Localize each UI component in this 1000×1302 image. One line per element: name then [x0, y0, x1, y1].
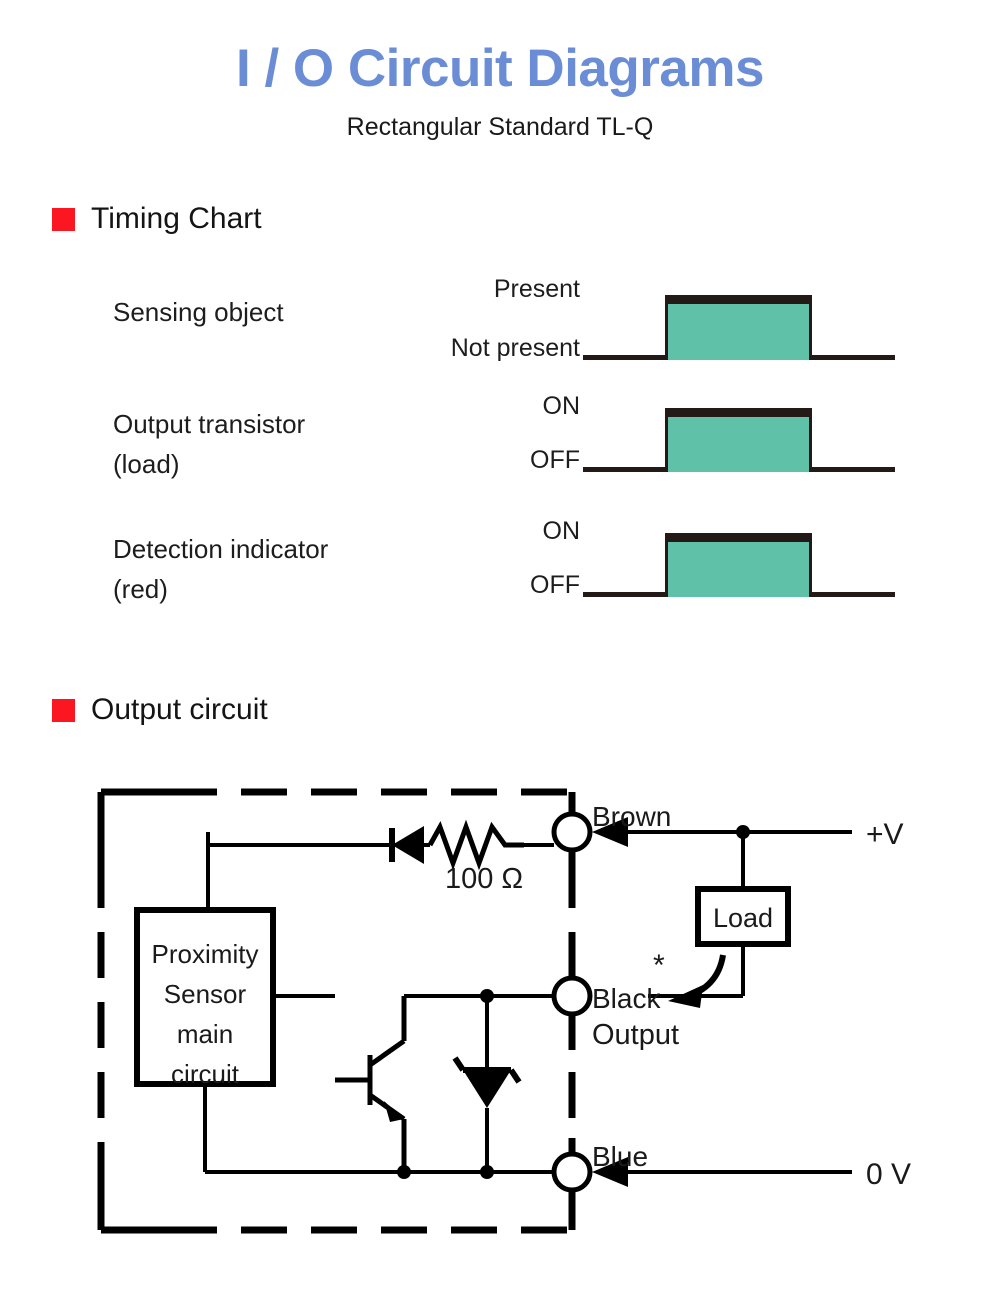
timing-row-high-label: ON — [543, 517, 581, 546]
timing-waveform — [583, 505, 895, 625]
wire-color-label-black: Black — [592, 983, 661, 1014]
waveform-pulse — [665, 295, 812, 360]
terminal-function-label-output: Output — [592, 1019, 679, 1051]
led-diode-icon — [345, 826, 430, 864]
junction-dot — [397, 1165, 411, 1179]
sensor-block-line-1: Proximity — [152, 939, 259, 969]
junction-dot — [480, 989, 494, 1003]
waveform-pulse — [665, 533, 812, 597]
timing-row-label: Detection indicator(red) — [113, 530, 328, 609]
timing-row-high-label: ON — [543, 392, 581, 421]
timing-row-high-label: Present — [494, 275, 580, 304]
section-heading-output-circuit: Output circuit — [52, 693, 268, 727]
red-square-bullet-icon — [52, 208, 75, 231]
timing-row-label: Sensing object — [113, 293, 284, 333]
section-heading-label: Timing Chart — [91, 202, 262, 236]
page-title: I / O Circuit Diagrams — [0, 0, 1000, 99]
timing-waveform — [583, 255, 895, 375]
timing-row-low-label: OFF — [530, 446, 580, 475]
npn-transistor-icon — [335, 996, 404, 1172]
resistor-value-label: 100 Ω — [445, 863, 523, 895]
asterisk-footnote-marker: * — [653, 949, 665, 982]
junction-dot — [480, 1165, 494, 1179]
supply-label-positive-v: +V — [866, 818, 904, 851]
timing-waveform — [583, 380, 895, 500]
terminal-circle-black — [554, 978, 590, 1014]
timing-row: Output transistor(load) ON OFF — [0, 380, 1000, 500]
timing-row: Detection indicator(red) ON OFF — [0, 505, 1000, 625]
transistor-emitter-arrow-icon — [384, 1101, 404, 1122]
waveform-pulse — [665, 408, 812, 472]
timing-chart: Sensing object Present Not present Outpu… — [0, 255, 1000, 640]
timing-row: Sensing object Present Not present — [0, 255, 1000, 375]
supply-label-zero-v: 0 V — [866, 1158, 911, 1191]
timing-row-label: Output transistor(load) — [113, 405, 305, 484]
section-heading-timing-chart: Timing Chart — [52, 202, 262, 236]
wire-color-label-blue: Blue — [592, 1141, 648, 1172]
output-circuit-diagram: 100 Ω Proximity Sensor main circuit — [0, 760, 1000, 1260]
red-square-bullet-icon — [52, 699, 75, 722]
page-subtitle: Rectangular Standard TL-Q — [0, 99, 1000, 142]
timing-row-low-label: OFF — [530, 571, 580, 600]
terminal-circle-blue — [554, 1154, 590, 1190]
sensor-block-line-3: main — [177, 1019, 233, 1049]
timing-row-low-label: Not present — [451, 334, 580, 363]
sensor-block-line-2: Sensor — [164, 979, 247, 1009]
zener-diode-icon — [455, 996, 519, 1172]
load-label: Load — [713, 903, 773, 933]
section-heading-label: Output circuit — [91, 693, 268, 727]
wire-color-label-brown: Brown — [592, 801, 671, 832]
terminal-circle-brown — [554, 814, 590, 850]
resistor-icon — [430, 827, 524, 863]
page-header: I / O Circuit Diagrams Rectangular Stand… — [0, 0, 1000, 142]
